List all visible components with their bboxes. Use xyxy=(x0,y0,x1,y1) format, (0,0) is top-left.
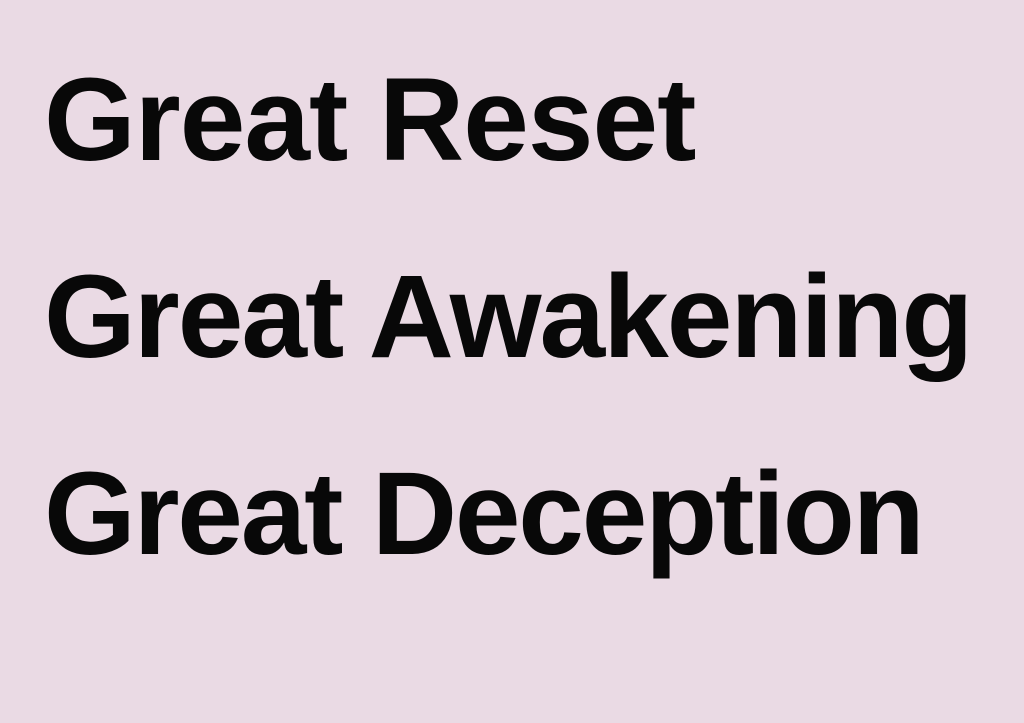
text-line-great-awakening: Great Awakening xyxy=(44,219,1004,416)
text-line-great-reset: Great Reset xyxy=(44,22,1004,219)
text-line-great-deception: Great Deception xyxy=(44,416,1004,613)
text-block: Great Reset Great Awakening Great Decept… xyxy=(44,22,1004,613)
slide-canvas: Great Reset Great Awakening Great Decept… xyxy=(0,0,1024,723)
